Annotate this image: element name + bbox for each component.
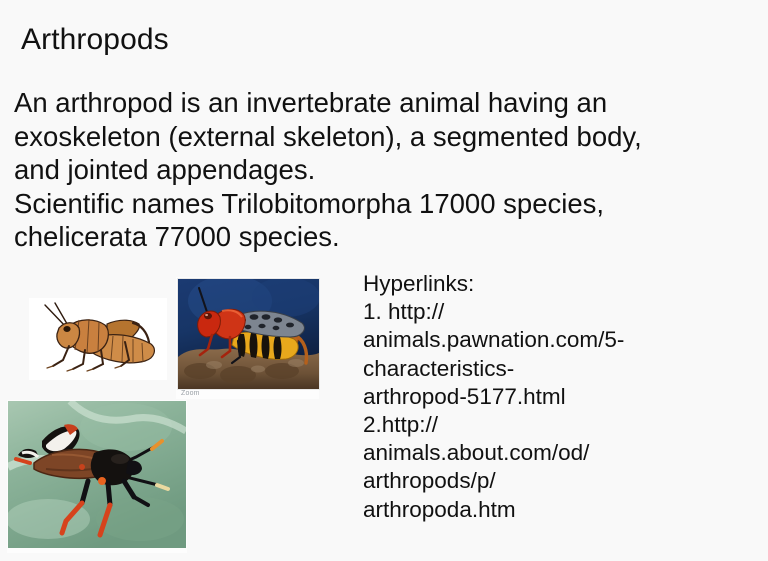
body-line: and jointed appendages. [14, 153, 724, 187]
body-line: chelicerata 77000 species. [14, 220, 724, 254]
hyperlink-line[interactable]: 1. http:// [363, 298, 663, 326]
body-text-block: An arthropod is an invertebrate animal h… [14, 86, 724, 254]
hyperlink-line[interactable]: characteristics- [363, 355, 663, 383]
hyperlink-line[interactable]: arthropods/p/ [363, 467, 663, 495]
body-line: An arthropod is an invertebrate animal h… [14, 86, 724, 120]
hyperlink-line[interactable]: 2.http:// [363, 411, 663, 439]
image-grasshopper [29, 298, 167, 380]
page-title: Arthropods [21, 22, 169, 58]
hyperlink-line[interactable]: arthropoda.htm [363, 496, 663, 524]
body-line: Scientific names Trilobitomorpha 17000 s… [14, 187, 724, 221]
image-locust-watermark: Zoom [181, 389, 241, 398]
slide-canvas: Arthropods An arthropod is an invertebra… [0, 0, 768, 561]
hyperlink-line[interactable]: animals.about.com/od/ [363, 439, 663, 467]
hyperlinks-heading: Hyperlinks: [363, 270, 663, 298]
hyperlink-line[interactable]: animals.pawnation.com/5- [363, 326, 663, 354]
hyperlink-line[interactable]: arthropod-5177.html [363, 383, 663, 411]
hyperlinks-block: Hyperlinks: 1. http:// animals.pawnation… [363, 270, 663, 524]
body-line: exoskeleton (external skeleton), a segme… [14, 120, 724, 154]
image-leafbug [8, 401, 186, 548]
image-locust [177, 278, 320, 390]
